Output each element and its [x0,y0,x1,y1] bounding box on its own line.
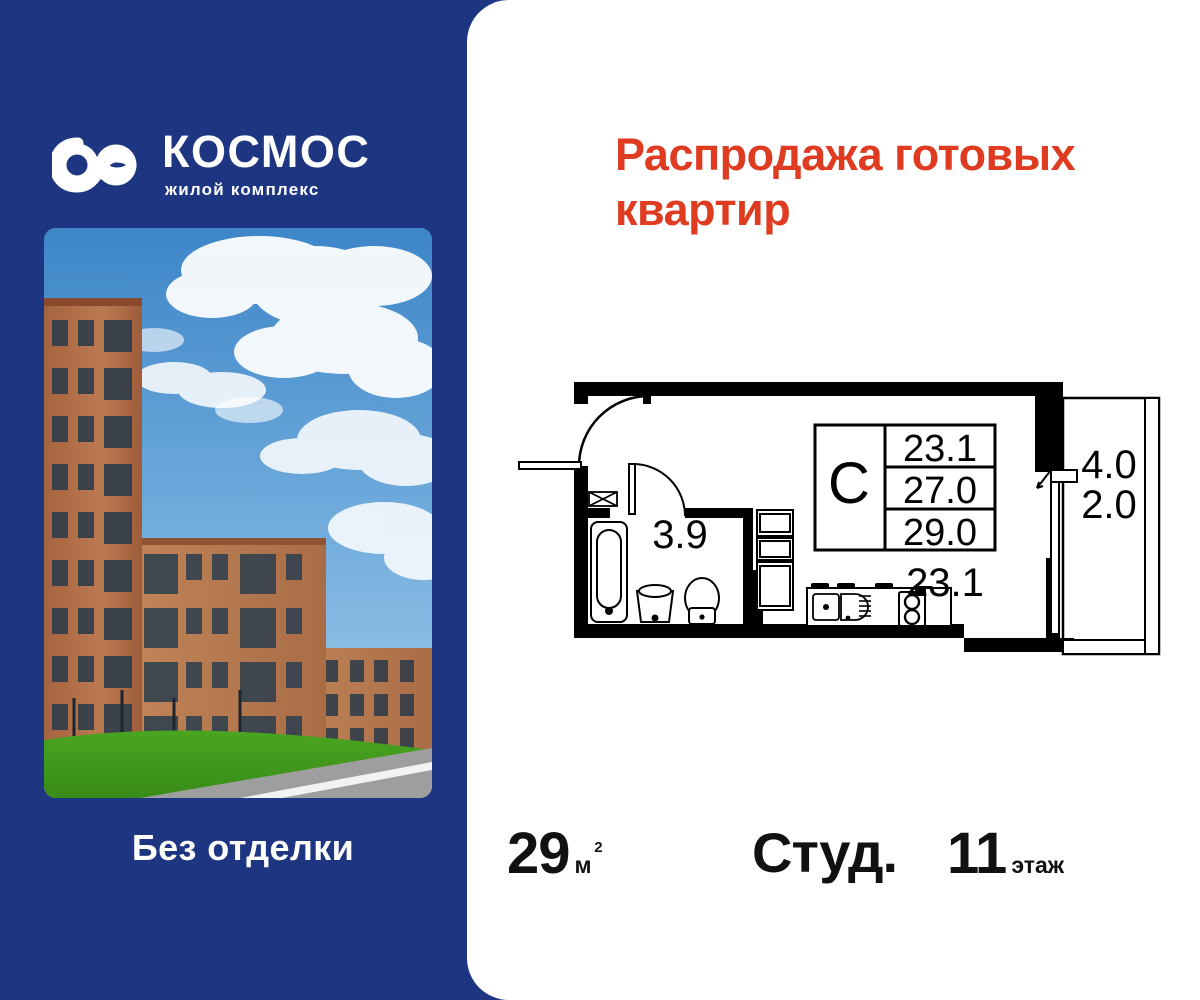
apartment-specs: 29 м 2 Студ. 11 этаж [507,812,1167,902]
brand-text-block: КОСМОС жилой комплекс [162,130,370,199]
brand-subtitle: жилой комплекс [165,180,370,200]
area-without-balcony: 27.0 [903,470,977,512]
room-type-label: С [828,451,870,516]
spec-floor-unit: этаж [1011,852,1064,879]
spec-floor-value: 11 [947,820,1006,887]
spec-area-unit-text: м [575,852,592,878]
balcony-area-2: 2.0 [1081,483,1137,527]
bathroom-area-label: 3.9 [652,513,708,557]
living-area-label: 23.1 [906,561,984,605]
brand-wordmark: КОСМОС [162,130,370,174]
infinity-icon [52,137,144,193]
page-title: Распродажа готовых квартир [615,128,1085,238]
area-total-living: 23.1 [903,428,977,470]
left-brand-panel: КОСМОС жилой комплекс [0,0,470,1000]
spec-area-value: 29 [507,820,570,887]
building-photo [44,228,432,798]
brand-logo: КОСМОС жилой комплекс [52,125,442,205]
area-total: 29.0 [903,512,977,554]
spec-rooms: Студ. [752,820,897,885]
spec-area: 29 м 2 [507,820,592,887]
finish-type-label: Без отделки [48,827,438,869]
balcony-area-1: 4.0 [1081,443,1137,487]
spec-area-unit: м 2 [575,852,592,879]
spec-rooms-value: Студ. [752,820,897,885]
floorplan-diagram: 3.9 [517,370,1177,670]
right-content-panel: Распродажа готовых квартир [467,0,1200,1000]
spec-floor: 11 этаж [947,820,1064,887]
spec-area-superscript: 2 [594,839,602,856]
